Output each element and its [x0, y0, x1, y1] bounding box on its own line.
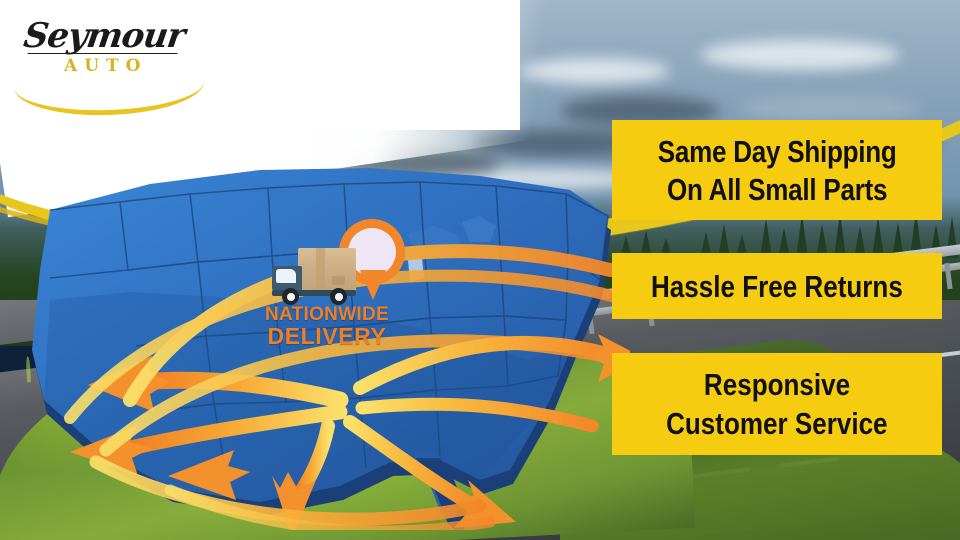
banner-hassle-free-returns[interactable]: Hassle Free Returns — [612, 253, 942, 319]
banner-responsive-customer-service[interactable]: Responsive Customer Service — [612, 353, 942, 455]
banner-3-line-2: Customer Service — [666, 408, 887, 439]
headline-line-2: DELIVERY — [268, 323, 387, 349]
banner-3-line-1: Responsive — [704, 369, 850, 400]
banner-1-line-2: On All Small Parts — [667, 174, 887, 205]
brand-logo[interactable]: Seymour AUTO — [18, 14, 198, 100]
delivery-truck-icon — [272, 248, 358, 304]
banner-same-day-shipping[interactable]: Same Day Shipping On All Small Parts — [612, 120, 942, 220]
banner-2-line-1: Hassle Free Returns — [651, 271, 903, 302]
logo-sub-name: AUTO — [64, 56, 147, 76]
promo-banner-stage: Seymour AUTO — [0, 0, 960, 540]
banner-1-line-1: Same Day Shipping — [658, 136, 897, 167]
nationwide-delivery-headline: NATIONWIDE DELIVERY — [252, 305, 402, 348]
logo-script-name: Seymour — [21, 16, 187, 56]
